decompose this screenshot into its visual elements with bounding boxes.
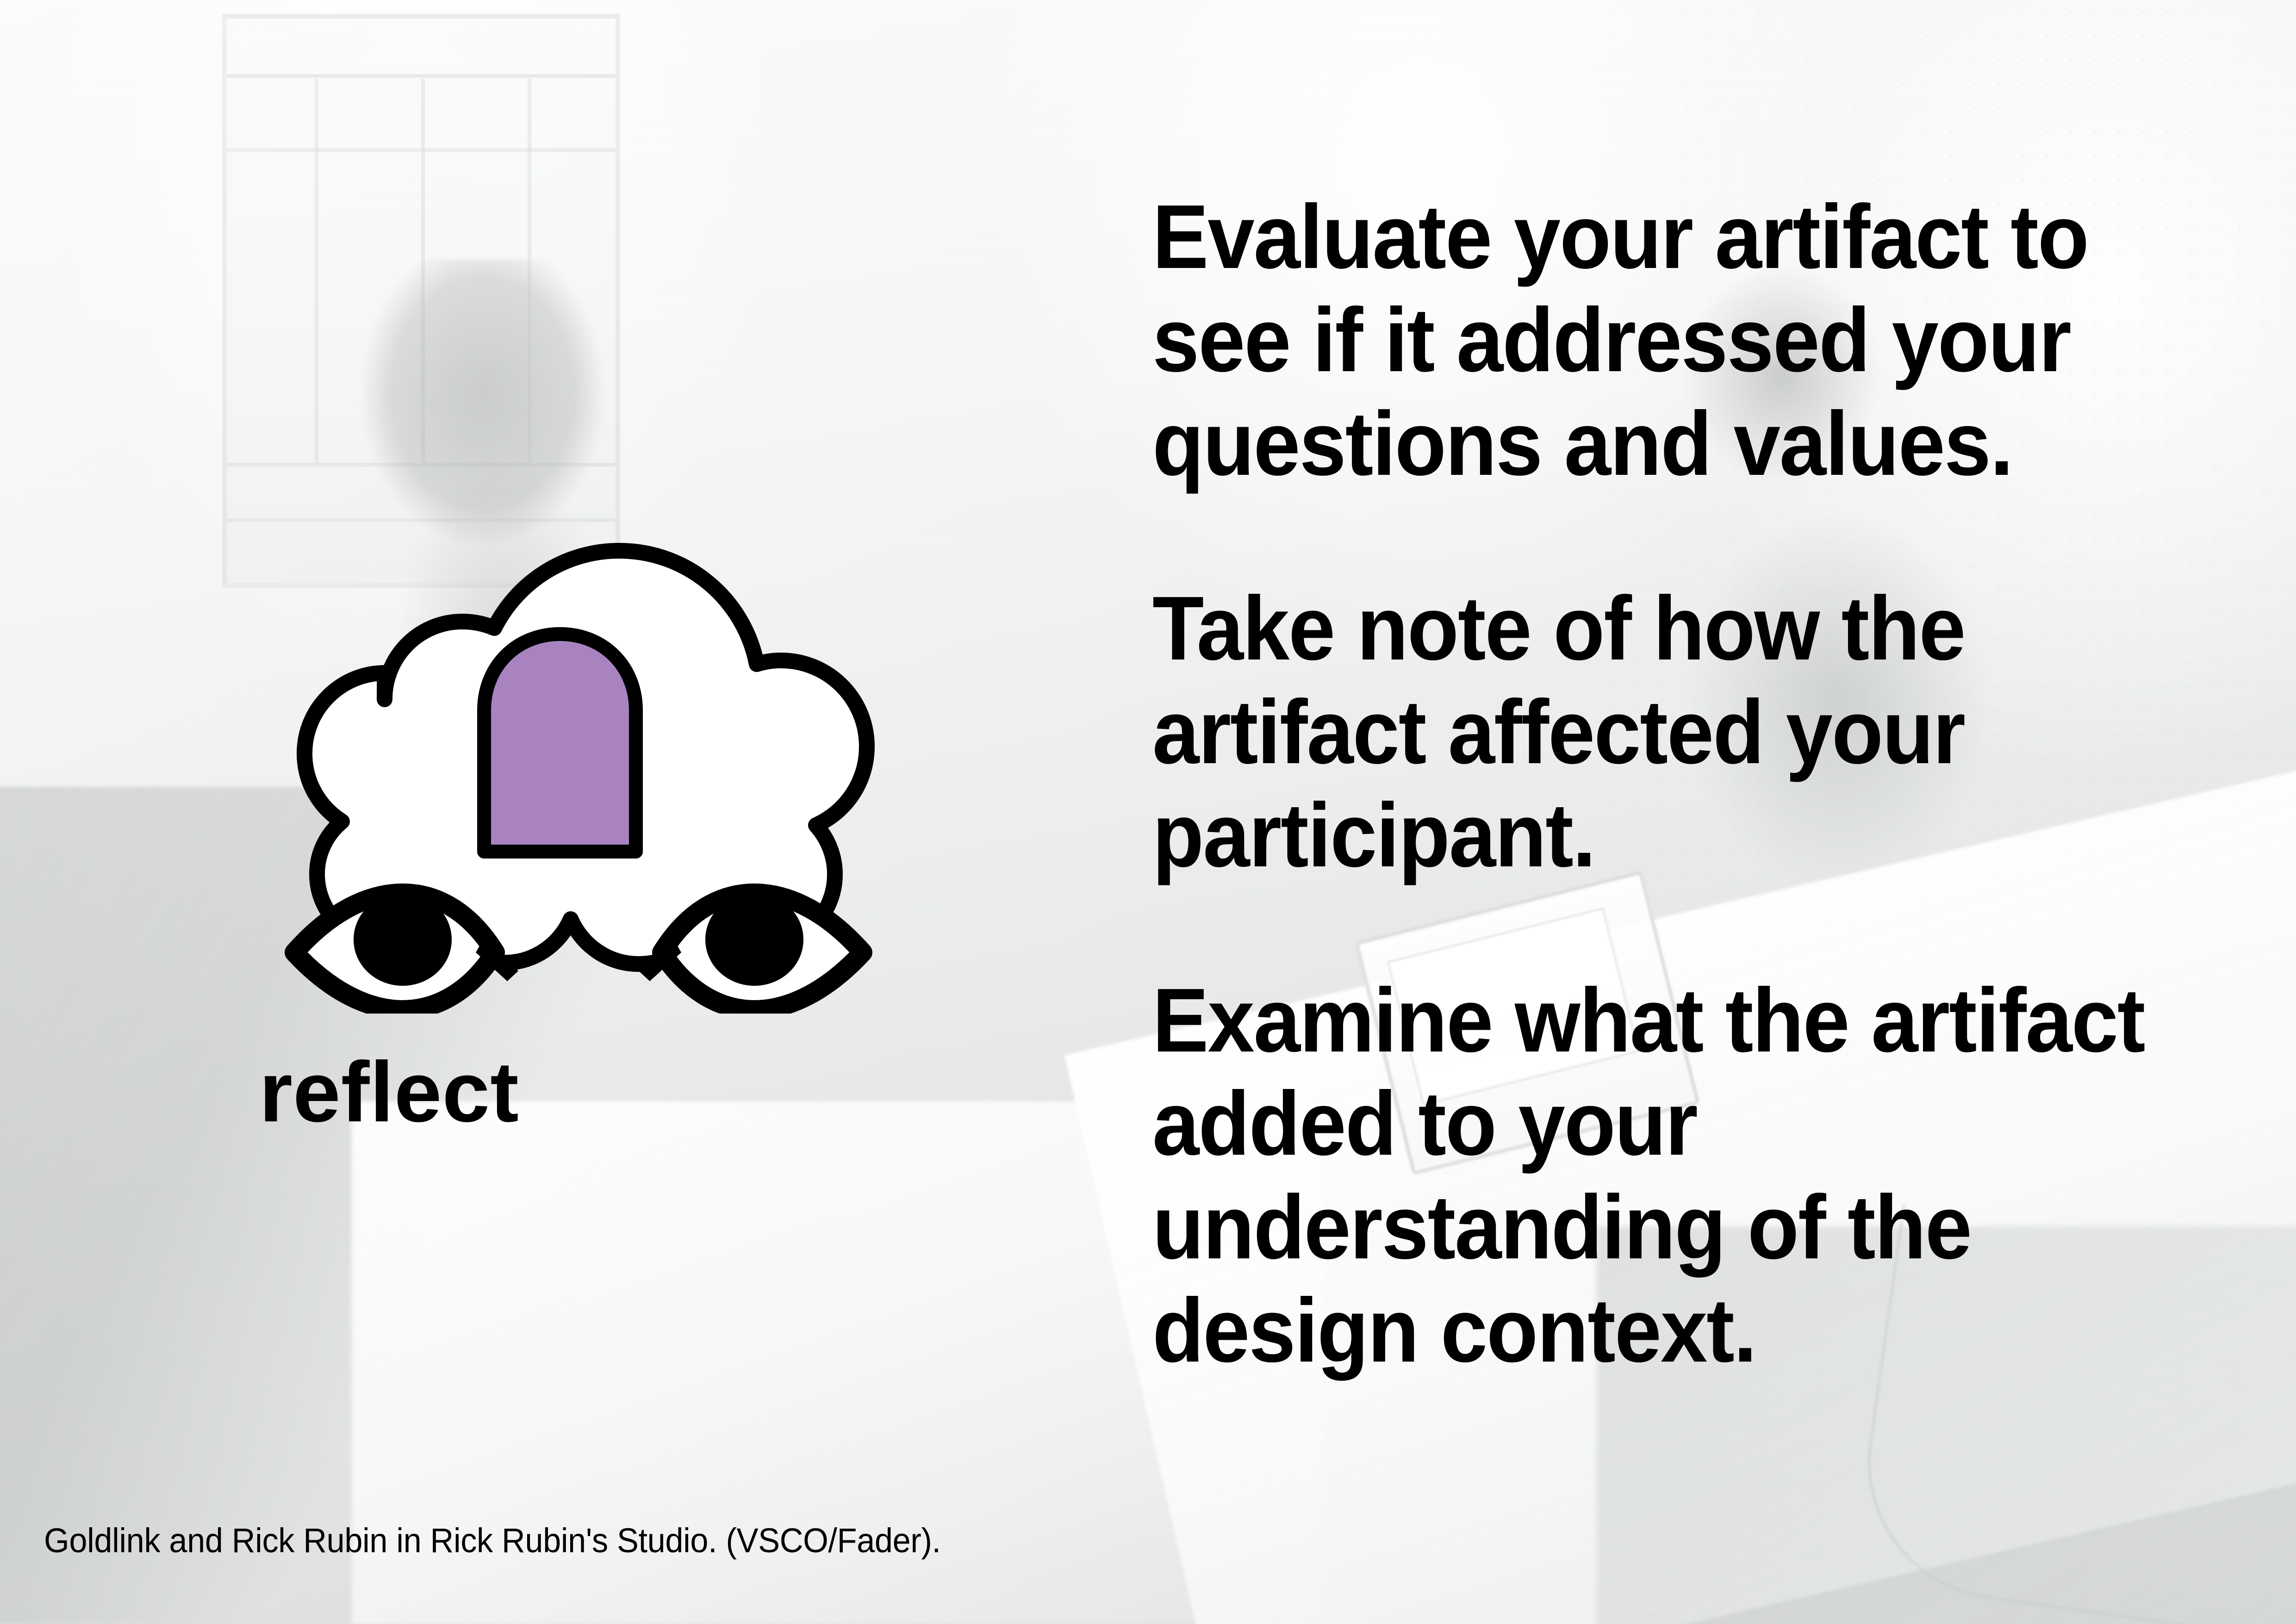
right-pupil xyxy=(705,893,803,986)
reflect-label: reflect xyxy=(259,1050,519,1135)
instruction-paragraph-3: Examine what the artifact added to your … xyxy=(1152,969,2155,1382)
instruction-paragraph-1: Evaluate your artifact to see if it addr… xyxy=(1152,185,2155,495)
instruction-paragraph-2: Take note of how the artifact affected y… xyxy=(1152,577,2155,887)
left-pupil xyxy=(354,893,452,986)
thought-cloud-with-eyes-icon xyxy=(250,477,907,1014)
reflect-icon xyxy=(250,477,907,1014)
instruction-copy-column: Evaluate your artifact to see if it addr… xyxy=(1152,185,2231,1382)
photo-credit-caption: Goldlink and Rick Rubin in Rick Rubin's … xyxy=(44,1521,941,1560)
slide-canvas: reflect Evaluate your artifact to see if… xyxy=(0,0,2296,1624)
purple-arch-shape xyxy=(484,634,636,852)
